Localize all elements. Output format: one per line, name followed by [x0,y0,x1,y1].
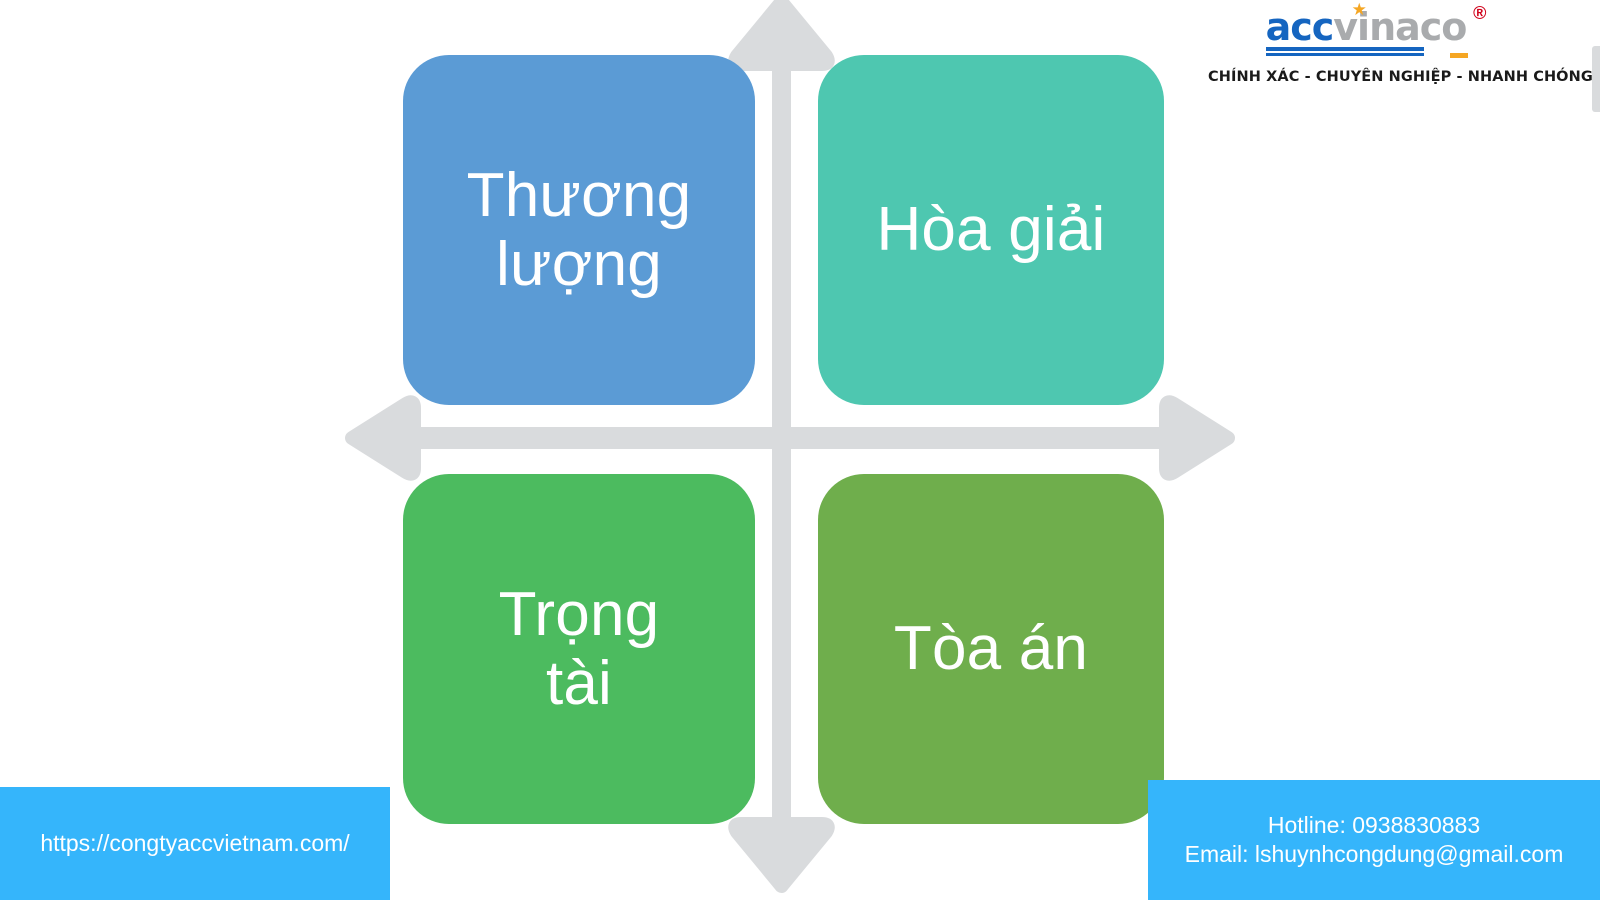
arrow-left-icon [352,402,414,474]
quadrant-card-toa-an[interactable]: Tòa án [818,474,1164,824]
website-banner[interactable]: https://congtyaccvietnam.com/ [0,787,390,900]
arrow-right-icon [1166,402,1228,474]
right-edge-decoration [1592,46,1600,112]
accvinaco-logo: ★ ® accvinaco [1266,6,1481,60]
axis-horizontal-shaft [380,427,1210,449]
logo-orange-accent [1450,53,1468,58]
quadrant-label-trong-tai: Trọng tài [489,580,670,719]
contact-banner[interactable]: Hotline: 0938830883 Email: lshuynhcongdu… [1148,780,1600,900]
website-url: https://congtyaccvietnam.com/ [40,829,349,858]
brand-tagline: CHÍNH XÁC - CHUYÊN NGHIỆP - NHANH CHÓNG [1208,69,1538,85]
quadrant-card-thuong-luong[interactable]: Thương lượng [403,55,755,405]
email-text: Email: lshuynhcongdung@gmail.com [1185,840,1564,869]
slide-canvas: Thương lượng Hòa giải Trọng tài Tòa án ★… [0,0,1600,900]
brand-block: ★ ® accvinaco CHÍNH XÁC - CHUYÊN NGHIỆP … [1208,6,1538,85]
quadrant-label-toa-an: Tòa án [884,614,1098,683]
quadrant-card-trong-tai[interactable]: Trọng tài [403,474,755,824]
axis-vertical-shaft [772,20,791,870]
star-icon: ★ [1352,1,1367,18]
quadrant-card-hoa-giai[interactable]: Hòa giải [818,55,1164,405]
axis-svg [0,0,1600,900]
quadrant-label-hoa-giai: Hòa giải [866,195,1115,264]
arrow-up-icon [735,2,828,64]
registered-trademark-icon: ® [1473,4,1486,22]
quadrant-label-thuong-luong: Thương lượng [457,161,702,300]
logo-text-acc: acc [1266,5,1334,49]
hotline-text: Hotline: 0938830883 [1268,811,1480,840]
logo-underline-secondary [1266,53,1424,56]
arrow-down-icon [735,824,828,886]
quadrant-axis-cross [0,0,1600,900]
